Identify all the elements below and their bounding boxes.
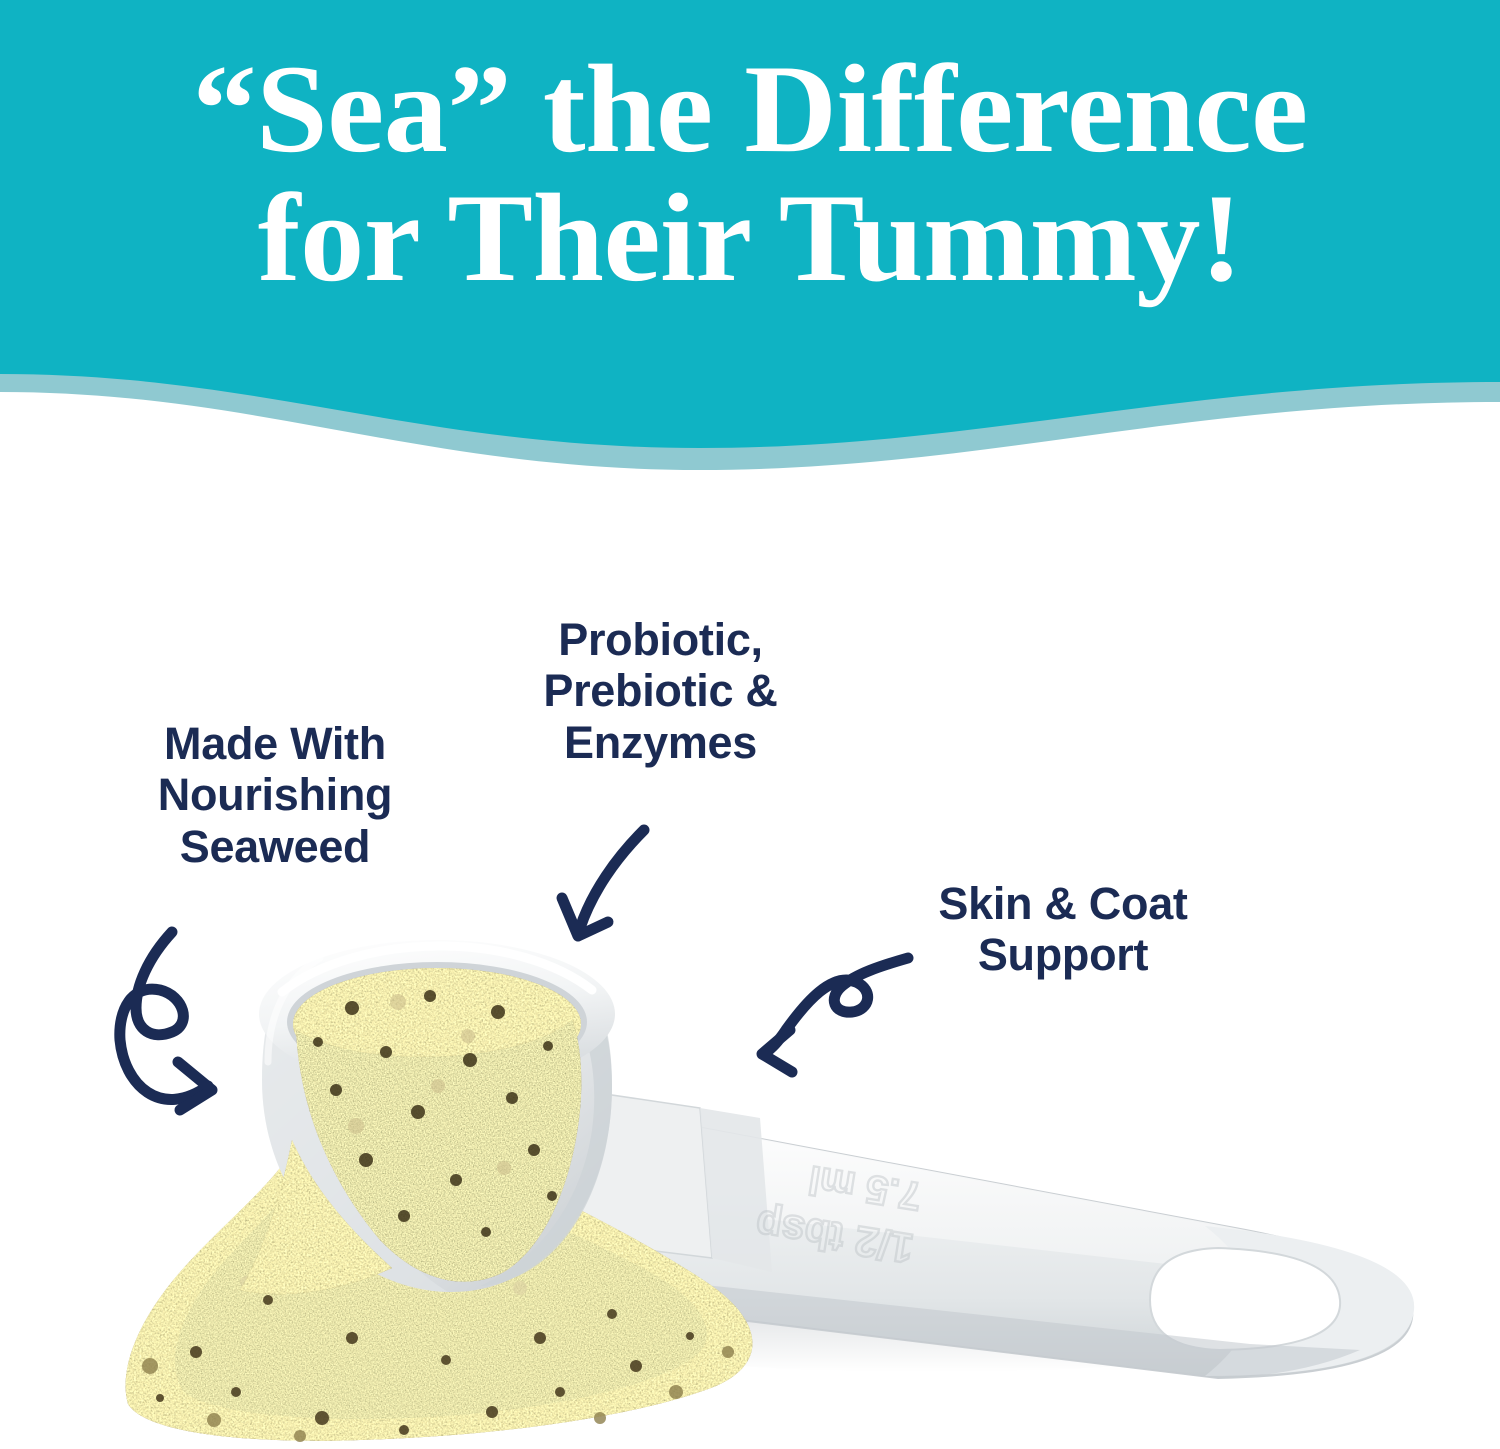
callout-seaweed-line-3: Seaweed: [60, 821, 490, 872]
callout-skin-and-coat-support: Skin & Coat Support: [868, 878, 1258, 981]
callout-skincoat-line-2: Support: [868, 929, 1258, 980]
callout-probiotic-prebiotic-enzymes: Probiotic, Prebiotic & Enzymes: [478, 614, 843, 768]
callout-skincoat-line-1: Skin & Coat: [868, 878, 1258, 929]
callout-probiotic-line-2: Prebiotic &: [478, 665, 843, 716]
callout-probiotic-line-3: Enzymes: [478, 717, 843, 768]
callout-seaweed-line-2: Nourishing: [60, 769, 490, 820]
callout-made-with-nourishing-seaweed: Made With Nourishing Seaweed: [60, 718, 490, 872]
scoop-bowl: [240, 940, 615, 1294]
callout-probiotic-line-1: Probiotic,: [478, 614, 843, 665]
callout-seaweed-line-1: Made With: [60, 718, 490, 769]
infographic-canvas: “Sea” the Difference for Their Tummy!: [0, 0, 1500, 1449]
